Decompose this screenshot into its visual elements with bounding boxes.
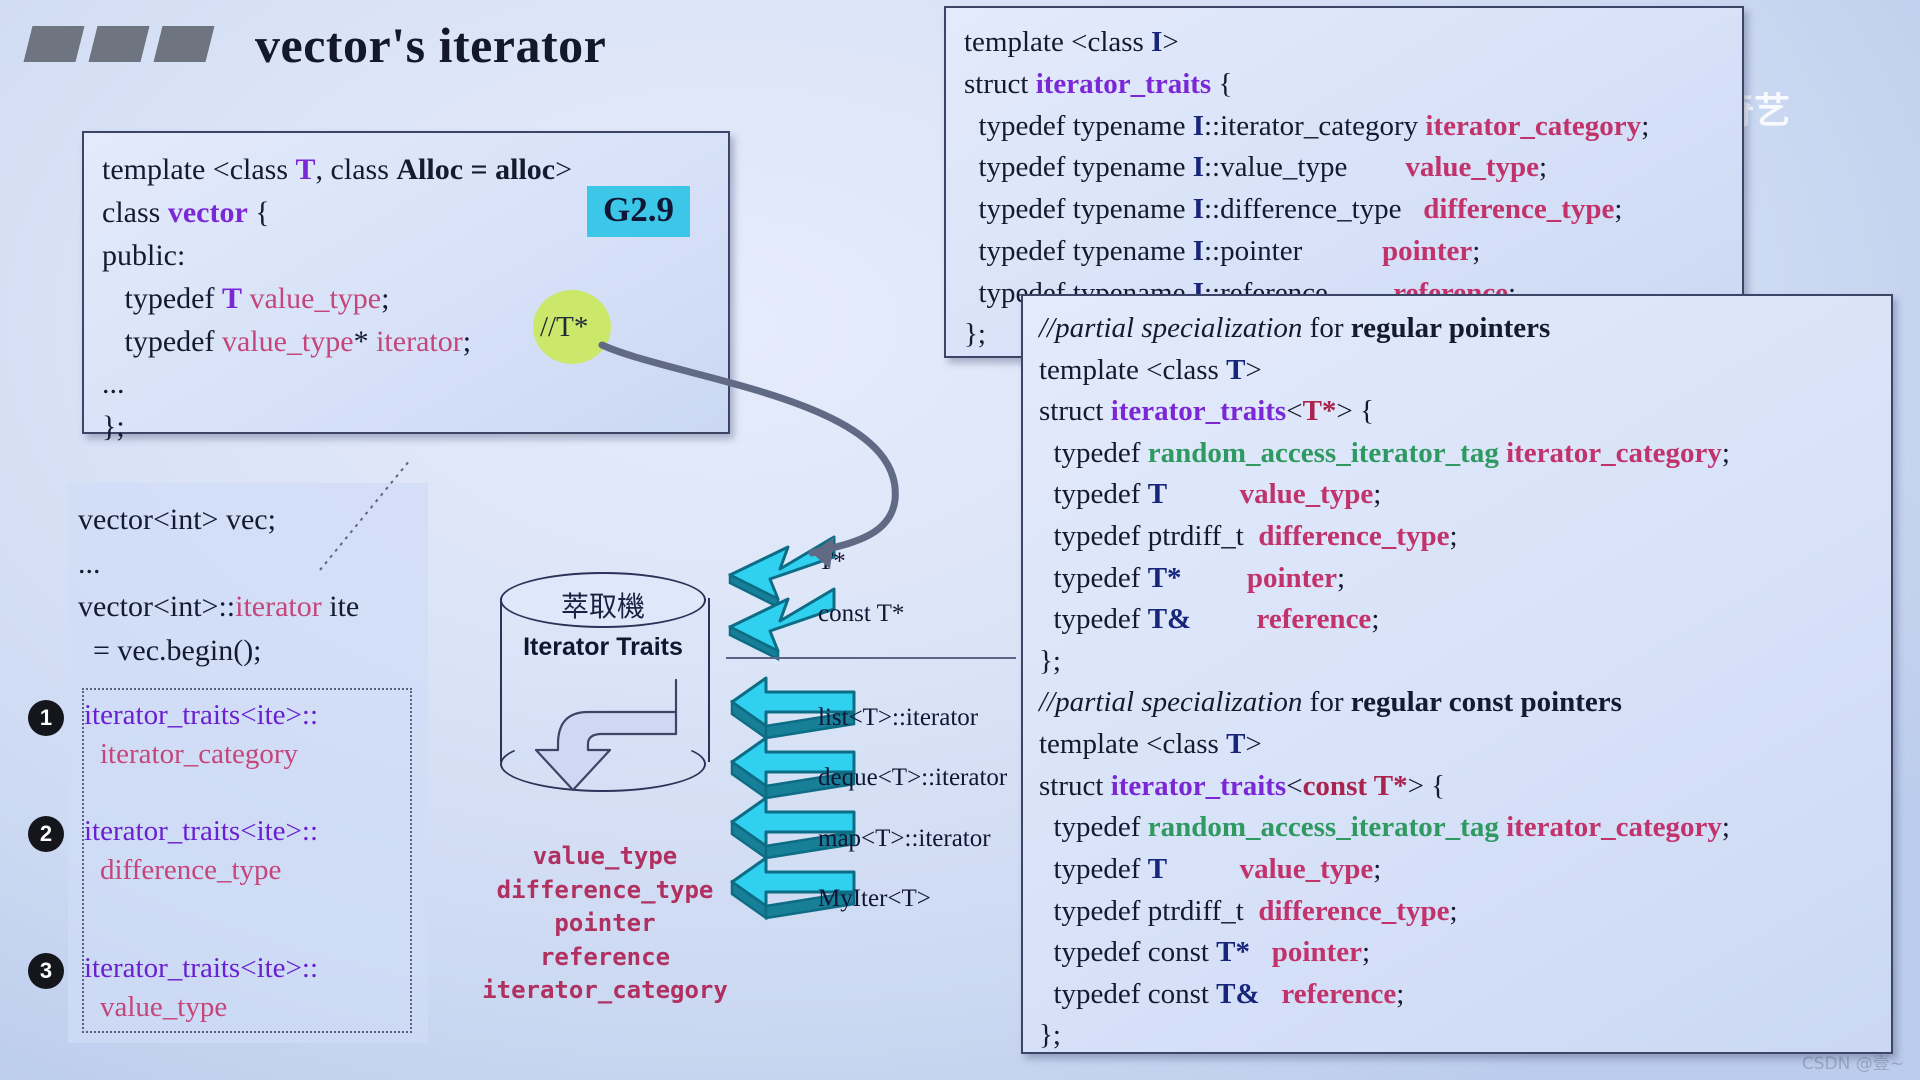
traits-query-2-member: difference_type	[100, 851, 281, 890]
output-reference: reference	[440, 941, 770, 975]
input-label-myiter: MyIter<T>	[818, 885, 931, 913]
traits-query-3-member: value_type	[100, 988, 227, 1027]
version-badge: G2.9	[587, 186, 690, 237]
slide-canvas: vector's iterator template <class T, cla…	[0, 0, 1920, 1080]
input-label-list-iterator: list<T>::iterator	[818, 704, 978, 732]
vector-definition-box: template <class T, class Alloc = alloc> …	[82, 131, 730, 434]
usage-example-code: vector<int> vec; ... vector<int>::iterat…	[78, 498, 359, 672]
traits-query-2: iterator_traits<ite>::difference_type	[84, 812, 318, 890]
input-label-deque-iterator: deque<T>::iterator	[818, 764, 1007, 792]
page-title: vector's iterator	[255, 16, 606, 74]
logo-bars-icon	[28, 26, 210, 62]
output-difference-type: difference_type	[440, 874, 770, 908]
traits-query-1-member: iterator_category	[100, 735, 298, 774]
down-curved-arrow-icon	[528, 672, 678, 792]
iterator-traits-cylinder: 萃取機 Iterator Traits	[500, 572, 706, 788]
output-iterator-category: iterator_category	[440, 974, 770, 1008]
bullet-1: 1	[28, 700, 64, 736]
traits-query-2-head: iterator_traits<ite>::	[84, 815, 318, 847]
traits-query-1: iterator_traits<ite>::iterator_category	[84, 696, 318, 774]
input-label-tstar: T*	[818, 548, 846, 576]
input-groups-divider	[726, 657, 1016, 659]
traits-query-3-head: iterator_traits<ite>::	[84, 952, 318, 984]
bullet-2: 2	[28, 816, 64, 852]
output-pointer: pointer	[440, 907, 770, 941]
iterator-traits-specializations-box: //partial specialization for regular poi…	[1021, 294, 1893, 1054]
traits-query-3: iterator_traits<ite>::value_type	[84, 949, 318, 1027]
input-label-const-tstar: const T*	[818, 600, 904, 628]
iterator-traits-specializations-code: //partial specialization for regular poi…	[1023, 296, 1891, 1057]
bullet-3: 3	[28, 953, 64, 989]
traits-query-1-head: iterator_traits<ite>::	[84, 699, 318, 731]
output-value-type: value_type	[440, 840, 770, 874]
cylinder-output-list: value_type difference_type pointer refer…	[440, 840, 770, 1008]
cylinder-label-cn: 萃取機	[500, 585, 706, 625]
cylinder-label-en: Iterator Traits	[500, 633, 706, 662]
input-label-map-iterator: map<T>::iterator	[818, 825, 991, 853]
tstar-comment-label: //T*	[540, 311, 588, 344]
vector-code: template <class T, class Alloc = alloc> …	[84, 133, 728, 449]
